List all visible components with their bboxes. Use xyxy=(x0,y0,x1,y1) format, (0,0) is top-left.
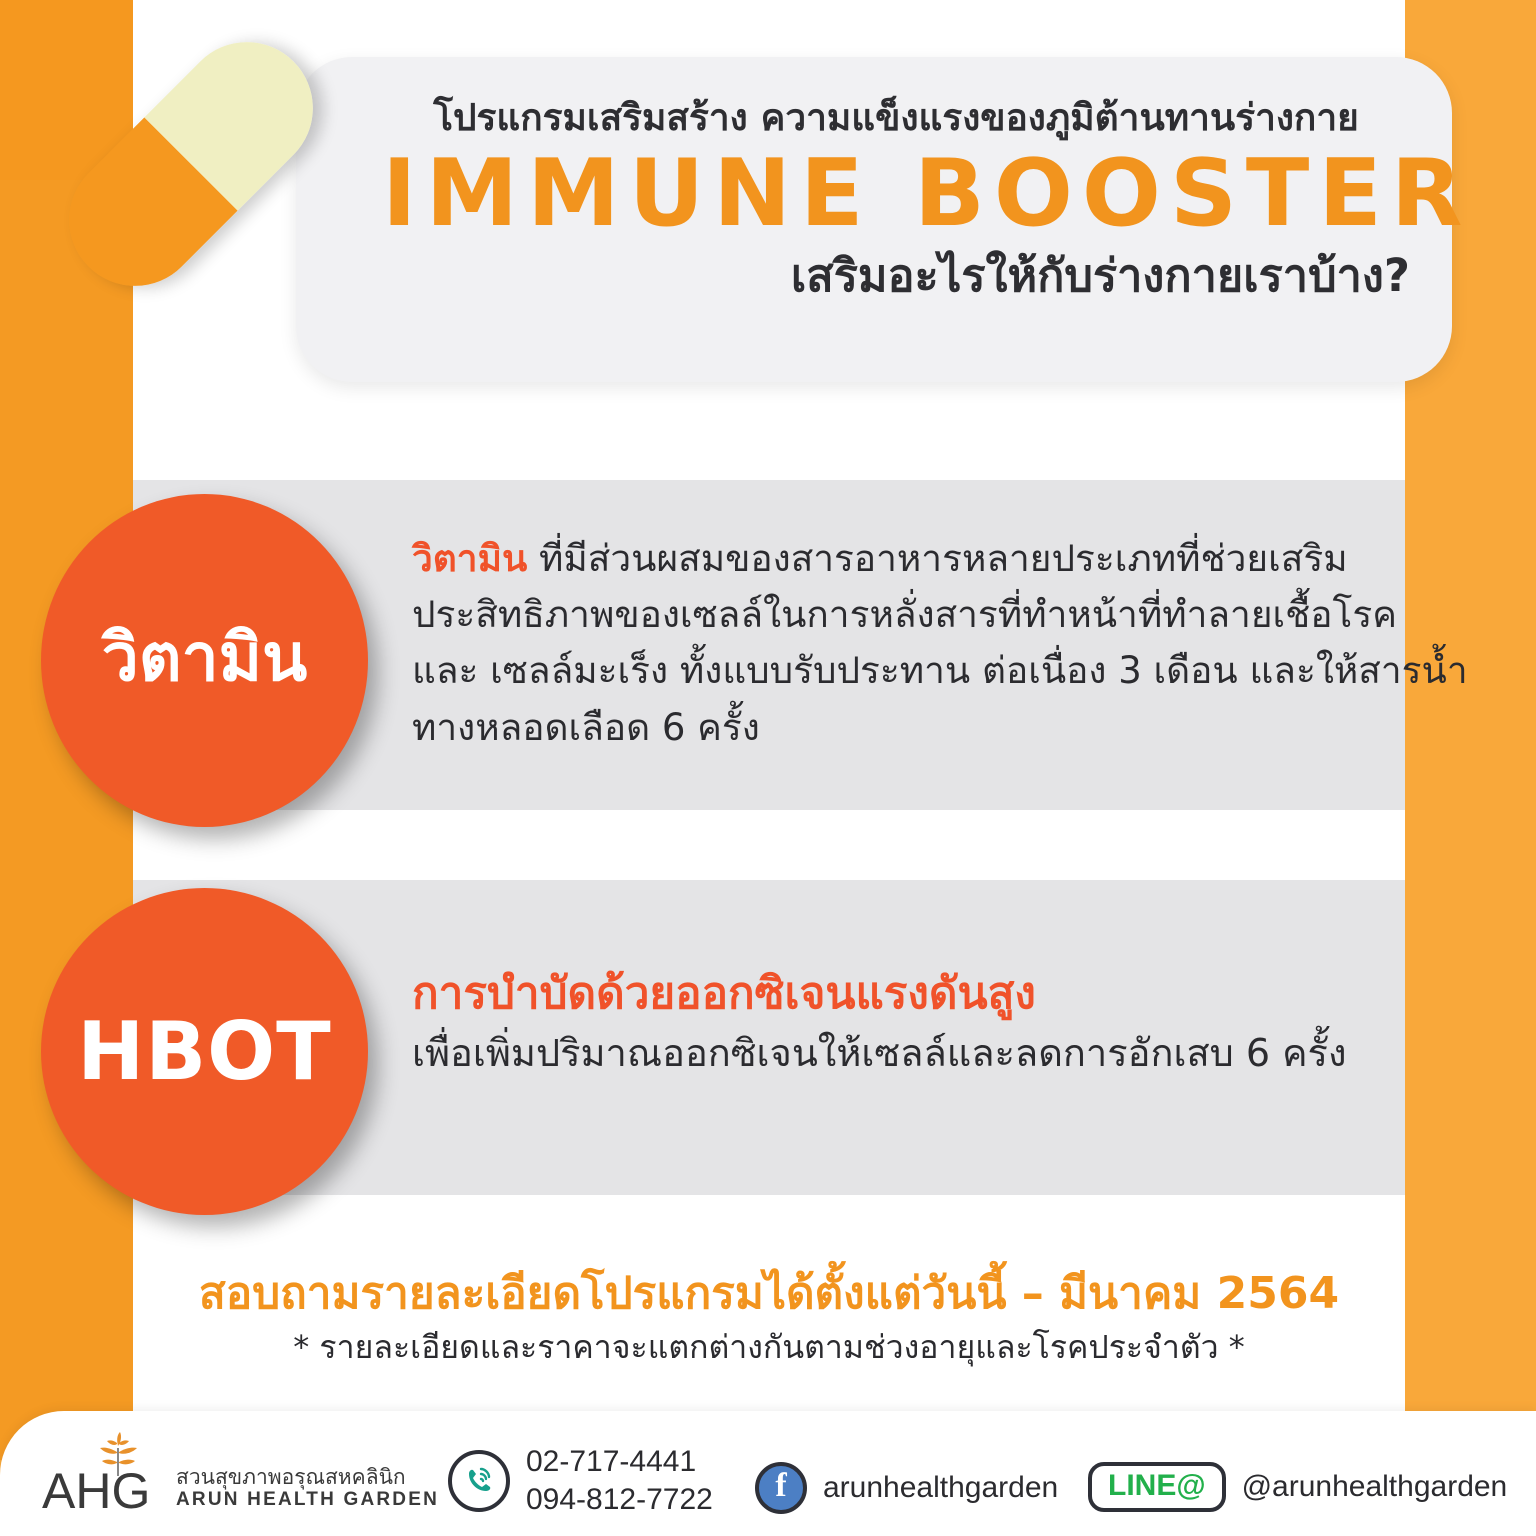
badge-vitamin: วิตามิน xyxy=(41,494,368,827)
ahg-logo-mark: AHG xyxy=(42,1438,164,1516)
phone-number-2: 094-812-7722 xyxy=(526,1481,713,1519)
hbot-description: เพื่อเพิ่มปริมาณออกซิเจนให้เซลล์และลดการ… xyxy=(412,1028,1472,1079)
phone-glyph xyxy=(462,1464,496,1498)
vitamin-body-text: ที่มีส่วนผสมของสารอาหารหลายประเภทที่ช่วย… xyxy=(412,537,1468,749)
contact-line[interactable]: LINE@ @arunhealthgarden xyxy=(1088,1462,1507,1512)
facebook-handle: arunhealthgarden xyxy=(823,1471,1058,1505)
facebook-icon: f xyxy=(755,1462,807,1514)
vitamin-description: วิตามิน ที่มีส่วนผสมของสารอาหารหลายประเภ… xyxy=(412,531,1472,756)
infographic-poster: โปรแกรมเสริมสร้าง ความแข็งแรงของภูมิต้าน… xyxy=(0,0,1536,1536)
ahg-letters: AHG xyxy=(42,1466,150,1516)
background-left-column-lower xyxy=(0,180,133,1460)
page-title: IMMUNE BOOSTER xyxy=(356,145,1416,243)
badge-hbot: HBOT xyxy=(41,888,368,1215)
clinic-name-th: สวนสุขภาพอรุณสหคลินิก xyxy=(176,1465,439,1489)
badge-vitamin-label: วิตามิน xyxy=(102,605,308,710)
contact-facebook[interactable]: f arunhealthgarden xyxy=(755,1462,1058,1514)
promo-headline: สอบถามรายละเอียดโปรแกรมได้ตั้งแต่วันนี้ … xyxy=(133,1258,1405,1328)
phone-ring-icon xyxy=(448,1450,510,1512)
badge-hbot-label: HBOT xyxy=(77,1005,332,1098)
line-badge-icon: LINE@ xyxy=(1088,1462,1226,1512)
header-card: โปรแกรมเสริมสร้าง ความแข็งแรงของภูมิต้าน… xyxy=(296,57,1452,382)
header-inner: โปรแกรมเสริมสร้าง ความแข็งแรงของภูมิต้าน… xyxy=(296,57,1452,382)
brand-logo: AHG สวนสุขภาพอรุณสหคลินิก ARUN HEALTH GA… xyxy=(42,1438,439,1516)
vitamin-lead-word: วิตามิน xyxy=(412,537,527,580)
phone-numbers: 02-717-4441 094-812-7722 xyxy=(526,1443,713,1520)
phone-number-1: 02-717-4441 xyxy=(526,1443,713,1481)
promo-note: * รายละเอียดและราคาจะแตกต่างกันตามช่วงอา… xyxy=(133,1322,1405,1373)
hbot-title: การบำบัดด้วยออกซิเจนแรงดันสูง xyxy=(412,968,1472,1021)
line-handle: @arunhealthgarden xyxy=(1242,1470,1508,1504)
header-question: เสริมอะไรให้กับร่างกายเราบ้าง? xyxy=(356,249,1416,303)
contact-phone[interactable]: 02-717-4441 094-812-7722 xyxy=(448,1443,713,1520)
clinic-name-en: ARUN HEALTH GARDEN xyxy=(176,1489,439,1512)
brand-name-block: สวนสุขภาพอรุณสหคลินิก ARUN HEALTH GARDEN xyxy=(176,1465,439,1516)
header-subtitle: โปรแกรมเสริมสร้าง ความแข็งแรงของภูมิต้าน… xyxy=(356,95,1416,141)
